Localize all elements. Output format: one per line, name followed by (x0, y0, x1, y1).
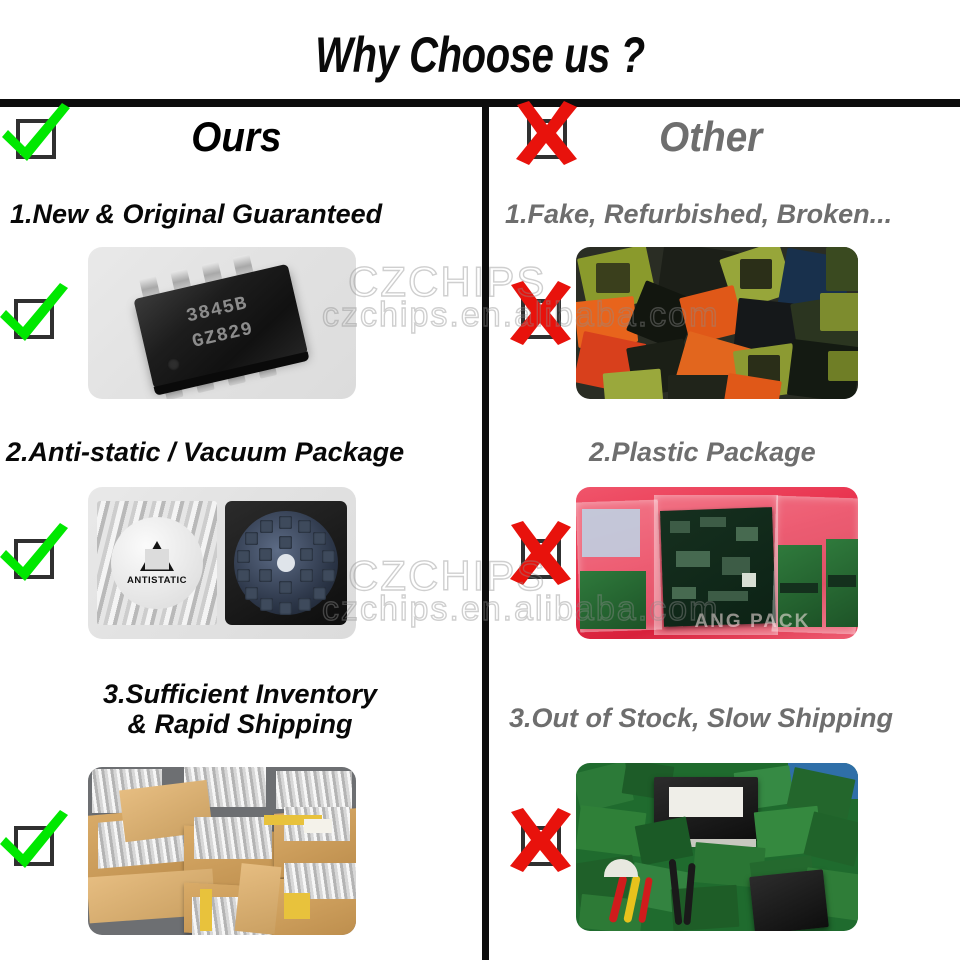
ours-row-3-photo (88, 767, 356, 935)
antistatic-package-illustration: ANTISTATIC (97, 501, 347, 625)
reel-disc (234, 511, 338, 615)
plastic-bagged-pcb-illustration: ANG PACK (576, 487, 858, 639)
other-row-1-x (513, 293, 565, 345)
ours-column: Ours 1.New & Original Guaranteed (0, 107, 482, 960)
other-row-2-label: 2.Plastic Package (589, 437, 816, 467)
ours-row-3-label-line1: 3.Sufficient Inventory (103, 679, 377, 709)
ours-row-3-label: 3.Sufficient Inventory & Rapid Shipping (30, 679, 450, 739)
module-label (669, 787, 744, 816)
antistatic-label: ANTISTATIC (111, 517, 203, 609)
ours-row-1-photo: 3845B GZ829 (88, 247, 356, 399)
check-mark-icon (0, 519, 72, 593)
other-row-1-label: 1.Fake, Refurbished, Broken... (505, 199, 892, 229)
horizontal-divider (0, 99, 960, 107)
warehouse-boxes-illustration (88, 767, 356, 935)
other-row-1-photo (576, 247, 858, 399)
ic-chip-illustration: 3845B GZ829 (95, 247, 348, 399)
esd-warning-triangle-icon (140, 541, 174, 571)
other-row-2-x (513, 533, 565, 585)
other-row-3-label: 3.Out of Stock, Slow Shipping (509, 703, 893, 733)
check-mark-icon (0, 279, 72, 353)
ours-row-1-check (6, 293, 58, 345)
ours-column-title: Ours (19, 113, 462, 161)
antistatic-foil-bag: ANTISTATIC (97, 501, 217, 625)
other-column: Other 1.Fake, Refurbished, Broken... (489, 107, 960, 960)
other-header-x (519, 113, 571, 165)
x-mark-icon (507, 99, 585, 173)
comparison-infographic: Why Choose us ? Ours 1.New & Original Gu… (0, 0, 960, 960)
x-mark-icon (501, 806, 579, 880)
ours-row-3-check (6, 820, 58, 872)
ours-row-1-label: 1.New & Original Guaranteed (10, 199, 382, 229)
other-row-2-photo: ANG PACK (576, 487, 858, 639)
scrap-chip-pile-illustration (576, 247, 858, 399)
ours-row-2-label: 2.Anti-static / Vacuum Package (6, 437, 404, 467)
component-reel-tray (225, 501, 347, 625)
reel-hub (277, 554, 295, 572)
ours-row-2-photo: ANTISTATIC (88, 487, 356, 639)
vertical-divider (482, 107, 489, 960)
pack-watermark-text: ANG PACK (694, 611, 810, 633)
antistatic-label-text: ANTISTATIC (127, 575, 187, 586)
x-mark-icon (501, 279, 579, 353)
ours-header-check (8, 113, 60, 165)
chip-pin1-dot (166, 357, 182, 373)
scrap-pcb-pile-illustration (576, 763, 858, 931)
check-mark-icon (0, 99, 74, 173)
page-title: Why Choose us ? (96, 26, 864, 84)
other-row-3-x (513, 820, 565, 872)
ours-row-2-check (6, 533, 58, 585)
lightning-bolt-icon (153, 550, 162, 569)
chip-body: 3845B GZ829 (133, 264, 308, 389)
check-mark-icon (0, 806, 72, 880)
ours-row-3-label-line2: & Rapid Shipping (128, 709, 353, 739)
x-mark-icon (501, 519, 579, 593)
other-row-3-photo (576, 763, 858, 931)
